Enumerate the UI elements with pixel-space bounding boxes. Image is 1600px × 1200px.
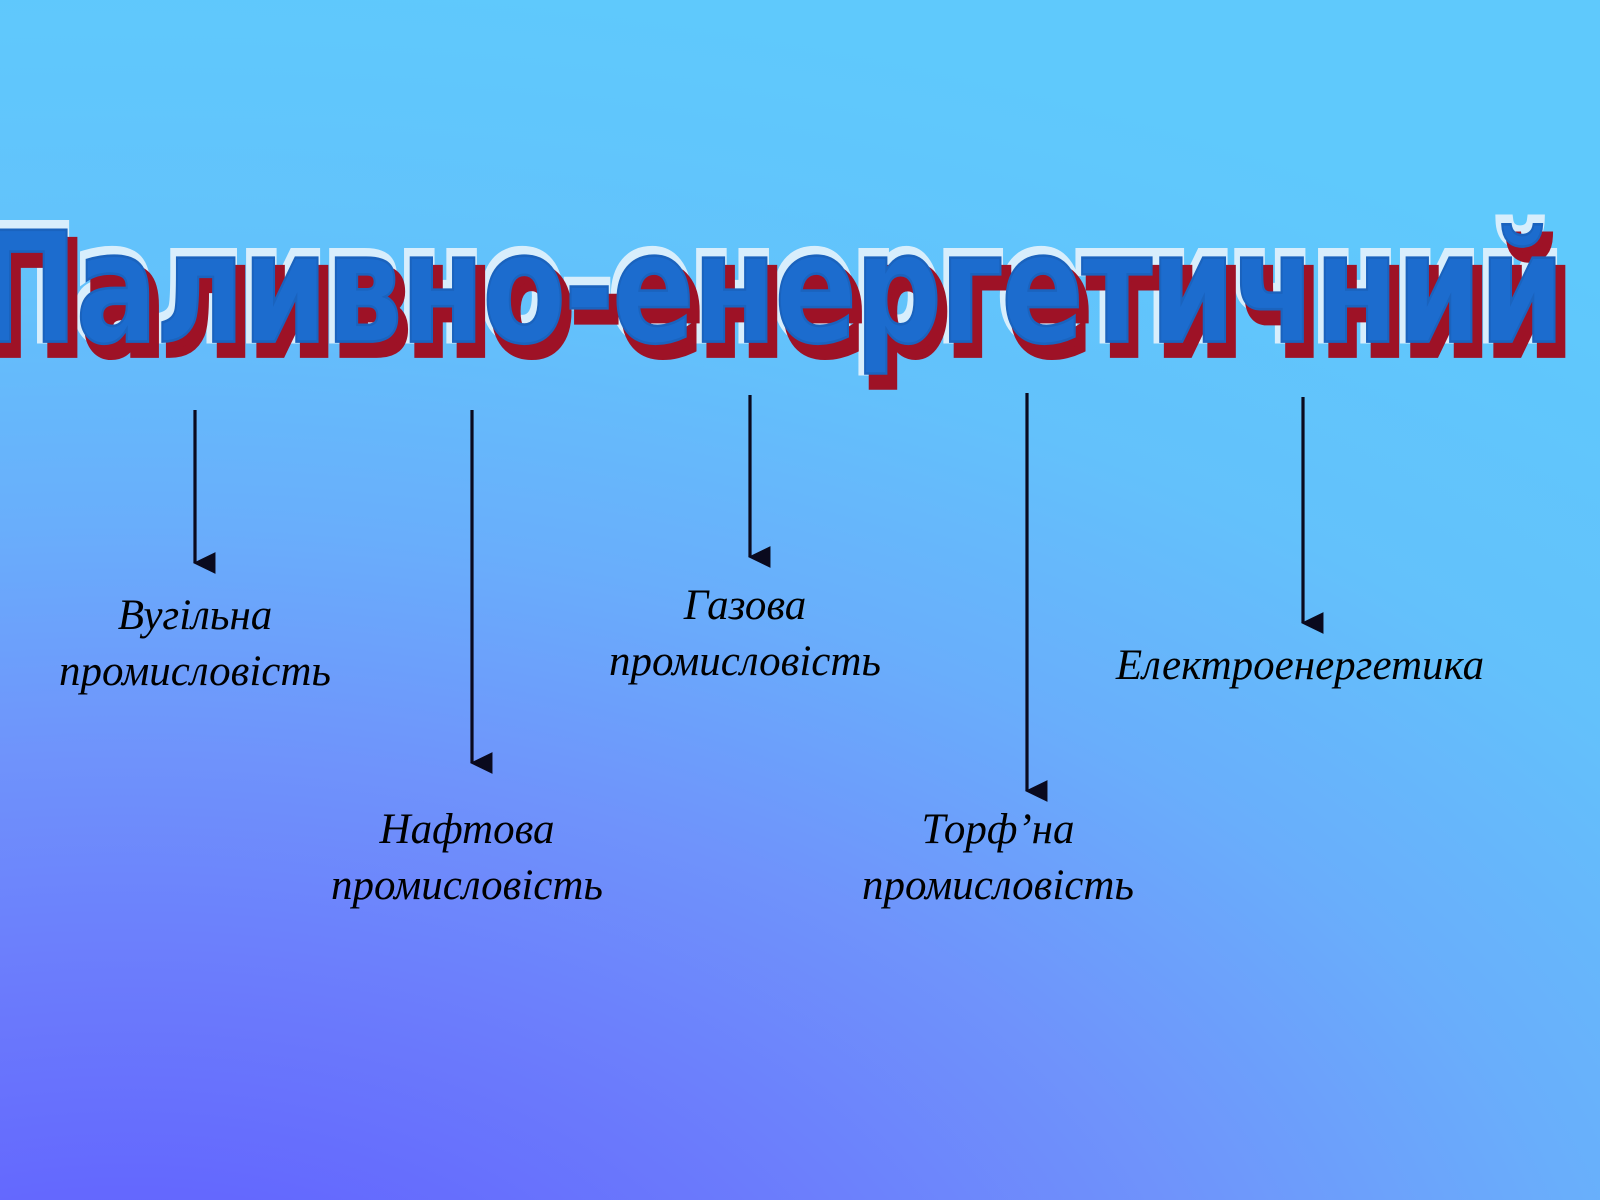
node-label-power: Електроенергетика [1090, 638, 1510, 694]
node-label-gas: Газова промисловість [550, 578, 940, 690]
title-fill-layer: Паливно-енергетичний комплекс України [0, 178, 1600, 399]
slide-canvas: Паливно-енергетичний комплекс України Па… [0, 0, 1600, 1200]
node-label-coal: Вугільна промисловість [0, 588, 390, 700]
node-label-oil: Нафтова промисловість [272, 802, 662, 914]
page-title: Паливно-енергетичний комплекс України Па… [0, 188, 1600, 378]
node-label-peat: Торф’на промисловість [803, 802, 1193, 914]
